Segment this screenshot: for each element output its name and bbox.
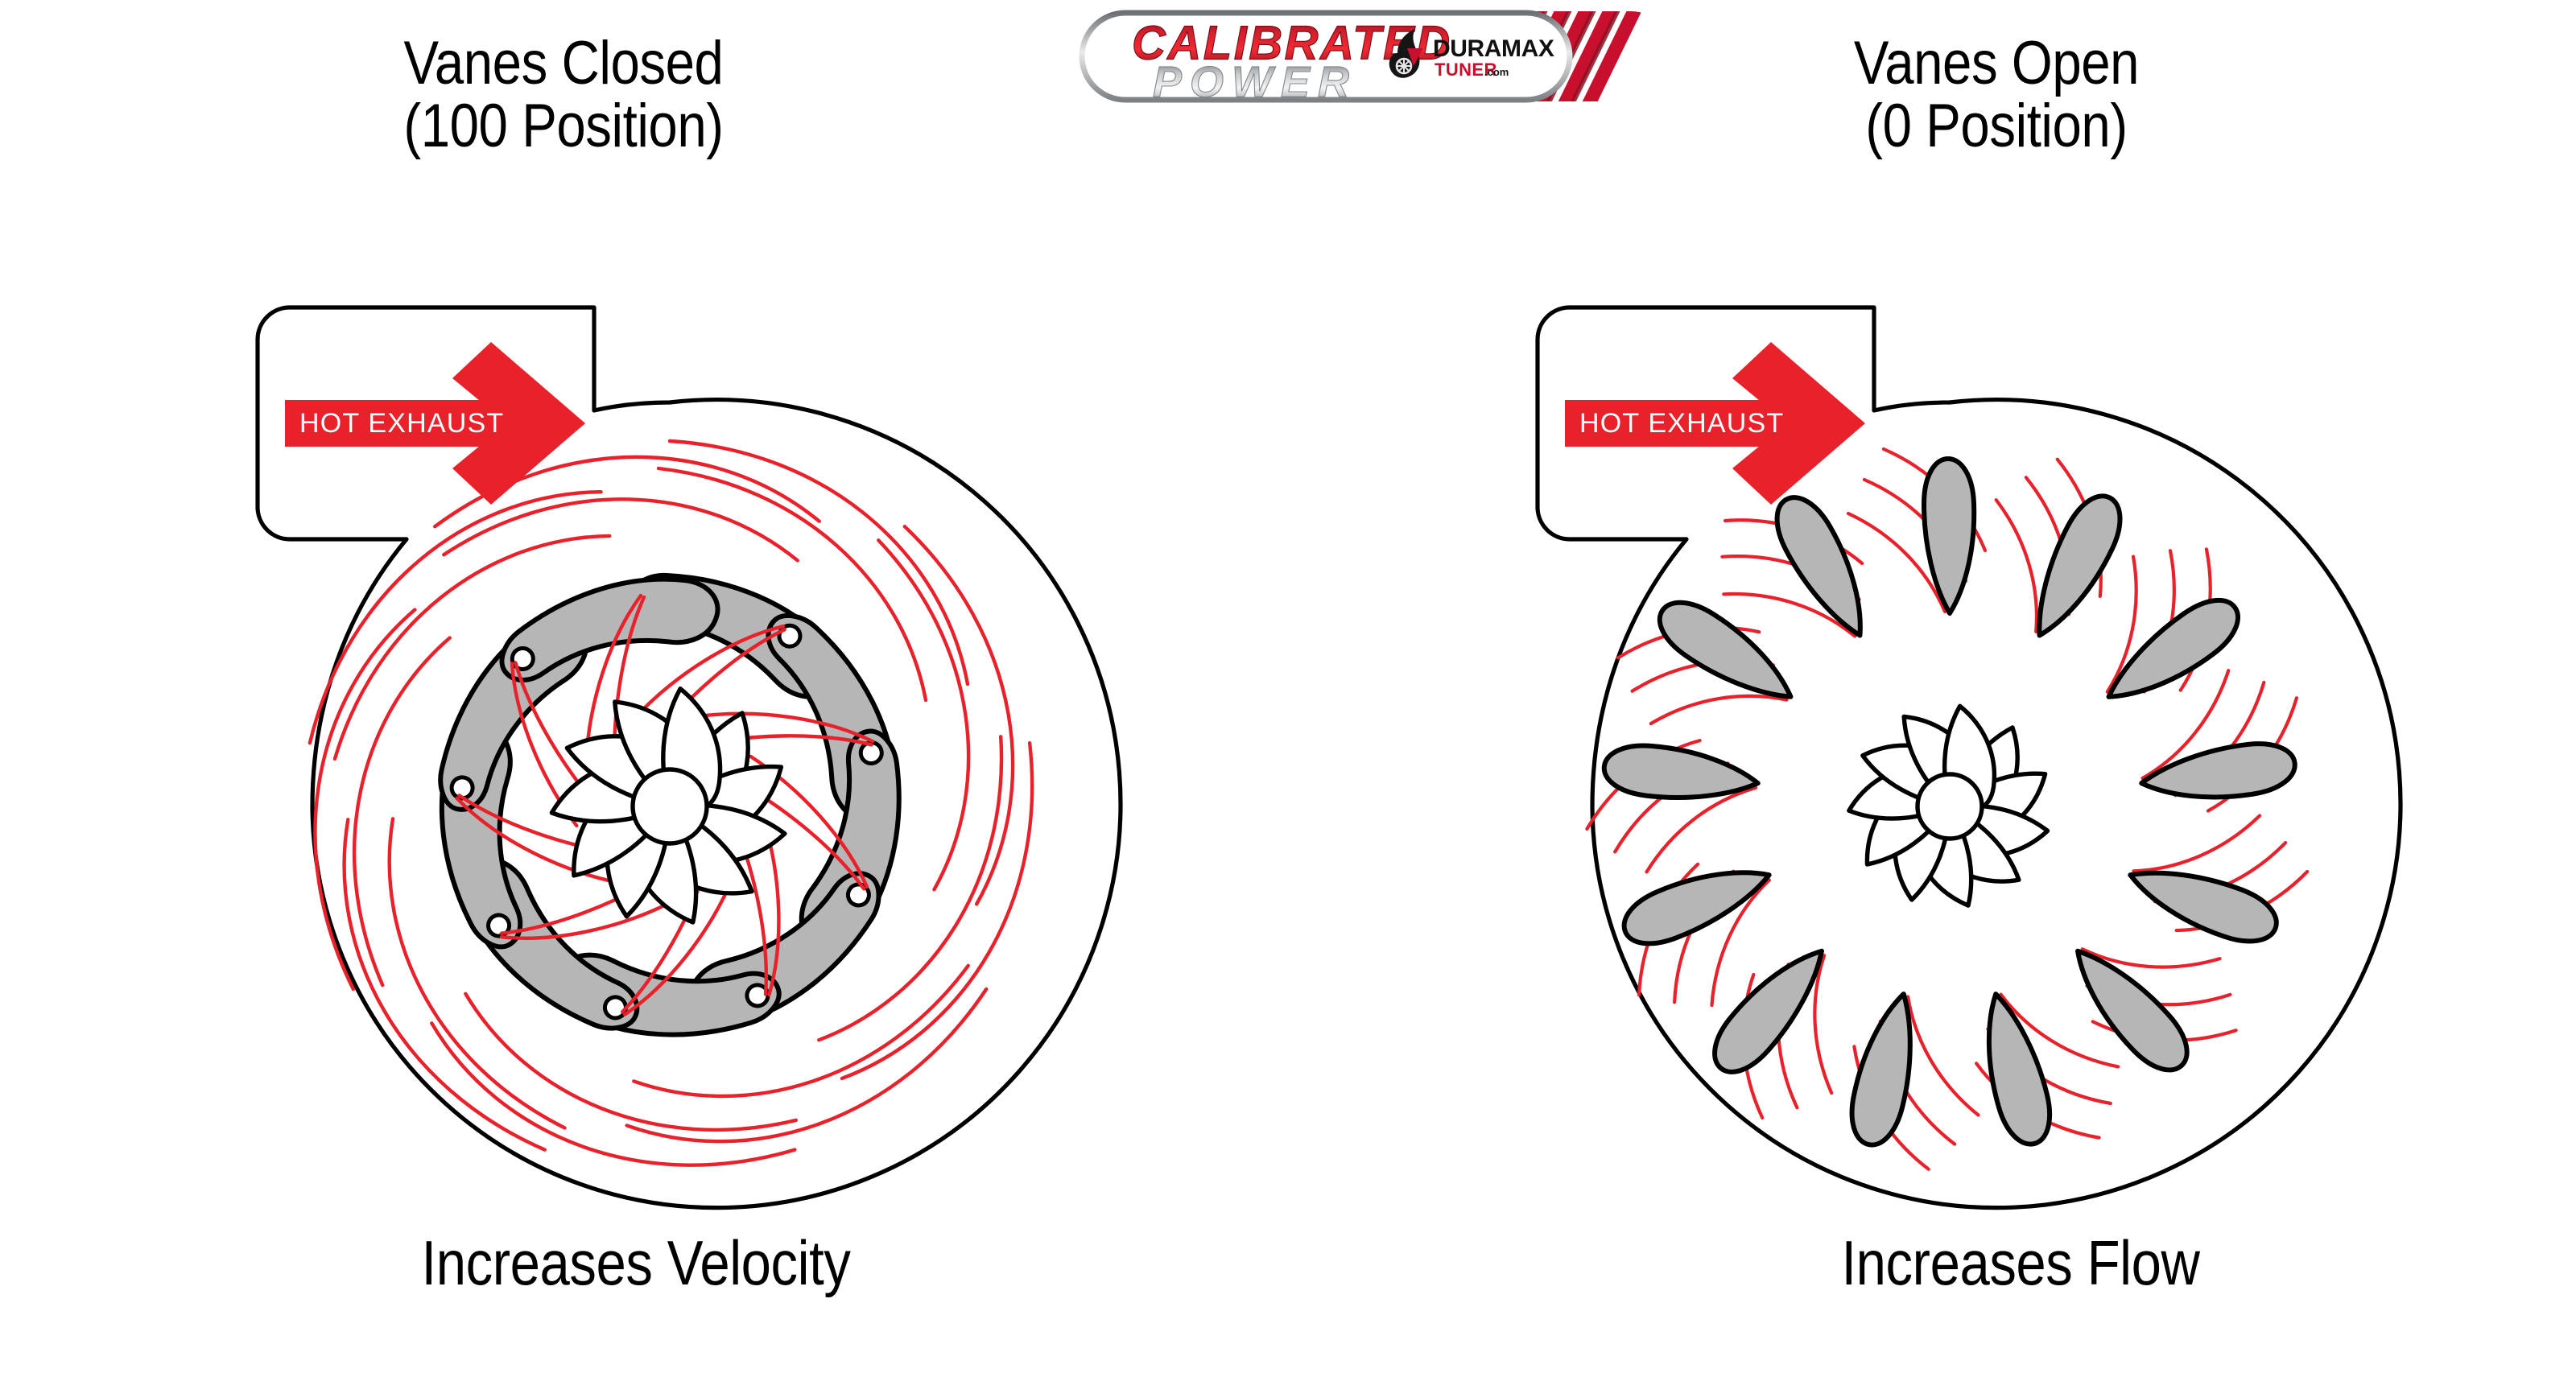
caption-increases-velocity: Increases Velocity (269, 1231, 1003, 1294)
badge-text-dotcom: .com (1484, 66, 1509, 78)
title-left-line2: (100 Position) (204, 95, 923, 158)
title-right-line1: Vanes Open (1854, 29, 2139, 97)
wheel-hub (633, 769, 707, 843)
diagram-canvas: Vanes Closed (100 Position) Vanes Open (… (0, 0, 2576, 1373)
badge-text-duramax: DURAMAX (1433, 35, 1554, 62)
brand-logo: CALIBRATED POWER DURAMAX TUNER .com (1075, 6, 1687, 111)
turbo-figure-vanes-open: HOT EXHAUST (1368, 266, 2552, 1215)
logo-text-power: POWER (1153, 58, 1357, 106)
caption-increases-flow: Increases Flow (1653, 1231, 2388, 1294)
hot-exhaust-label: HOT EXHAUST (299, 408, 504, 439)
title-left-line1: Vanes Closed (404, 29, 724, 97)
turbo-figure-vanes-closed: HOT EXHAUST (89, 266, 1272, 1215)
wheel-hub (1918, 774, 1982, 839)
page-title-vanes-open: Vanes Open (0 Position) (1637, 32, 2356, 159)
hot-exhaust-label: HOT EXHAUST (1579, 408, 1784, 439)
title-right-line2: (0 Position) (1637, 95, 2356, 158)
page-title-vanes-closed: Vanes Closed (100 Position) (204, 32, 923, 159)
